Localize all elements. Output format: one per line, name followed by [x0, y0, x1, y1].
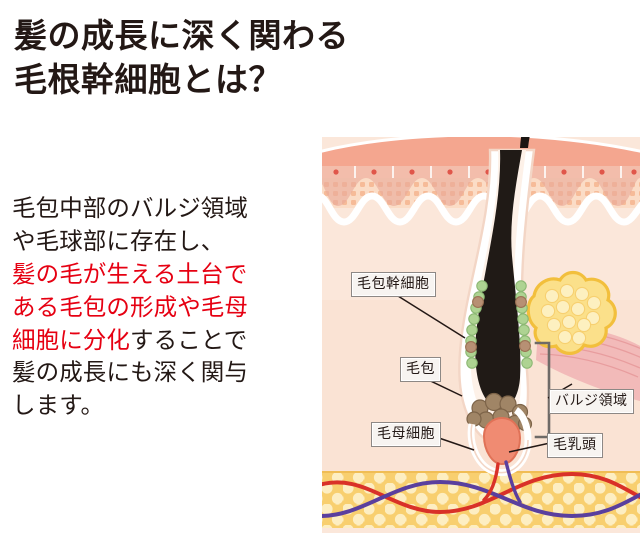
body-paragraph: 毛包中部のバルジ領域 や毛球部に存在し、 髪の毛が生える土台で ある毛包の形成や…	[12, 192, 322, 422]
body-line-4-emphasis: ある毛包の形成や毛母	[12, 291, 322, 324]
epidermis-band	[322, 166, 640, 178]
subcutaneous-fat	[322, 472, 640, 528]
body-line-3-emphasis: 髪の毛が生える土台で	[12, 258, 322, 291]
label-bulge-region: バルジ領域	[549, 389, 634, 414]
label-follicle: 毛包	[400, 357, 441, 382]
body-line-1: 毛包中部のバルジ領域	[12, 192, 322, 225]
body-line-7: します。	[12, 389, 322, 422]
label-matrix-cells: 毛母細胞	[371, 422, 441, 447]
body-line-6: 髪の成長にも深く関与	[12, 356, 322, 389]
dermal-papilla	[484, 418, 520, 464]
body-line-5-plain: することで	[130, 326, 247, 354]
body-line-5: 細胞に分化することで	[12, 324, 322, 357]
sebaceous-gland	[528, 273, 615, 354]
label-follicle-stem-cells: 毛包幹細胞	[351, 272, 436, 297]
hair-shaft	[520, 22, 587, 148]
body-line-2: や毛球部に存在し、	[12, 225, 322, 258]
label-dermal-papilla: 毛乳頭	[547, 433, 603, 458]
body-line-5-emphasis: 細胞に分化	[12, 326, 130, 354]
